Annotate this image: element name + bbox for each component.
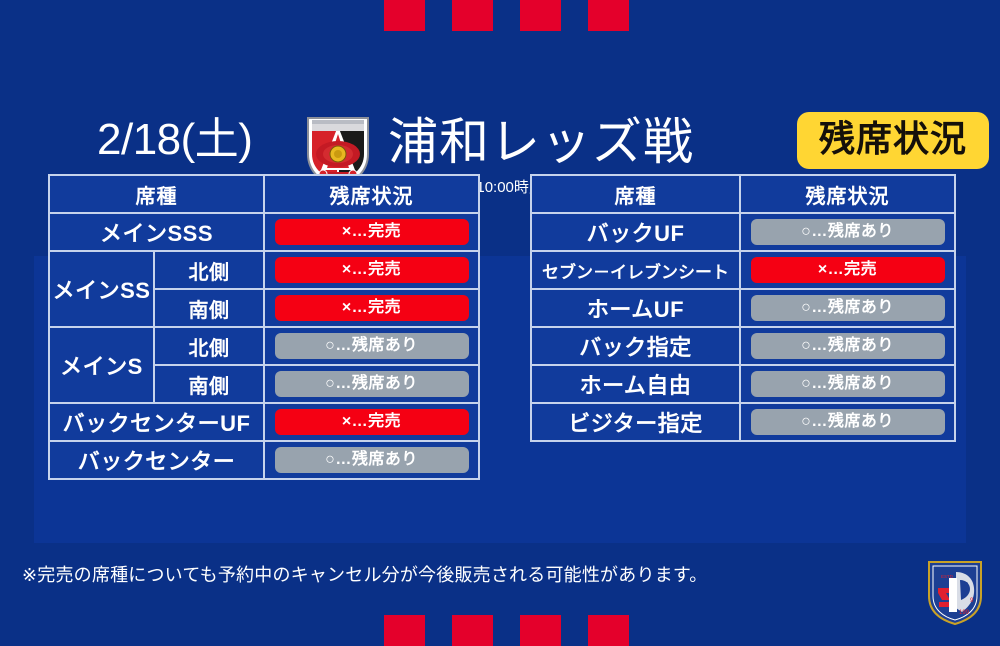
seat-type-name: メインSSS	[49, 213, 264, 251]
status-badge-soldout: ×…完売	[275, 409, 469, 435]
table-row: ビジター指定 ○…残席あり	[531, 403, 955, 441]
seat-type-sub: 南側	[154, 289, 264, 327]
seat-type-sub: 北側	[154, 327, 264, 365]
table-header-row: 席種 残席状況	[531, 175, 955, 213]
status-badge-available: ○…残席あり	[275, 371, 469, 397]
deco-block	[520, 0, 561, 31]
table-row: ホームUF ○…残席あり	[531, 289, 955, 327]
status-badge-available: ○…残席あり	[751, 333, 945, 359]
column-header-seat-type: 席種	[531, 175, 740, 213]
availability-cell: ○…残席あり	[740, 403, 955, 441]
seat-type-name: ホームUF	[531, 289, 740, 327]
status-badge-available: ○…残席あり	[275, 447, 469, 473]
status-badge-available: ○…残席あり	[751, 371, 945, 397]
deco-block	[384, 0, 425, 31]
left-seat-table: 席種 残席状況 メインSSS ×…完売 メインSS 北側 ×…完売 南側	[48, 174, 480, 480]
availability-cell: ×…完売	[264, 213, 479, 251]
deco-block	[588, 615, 629, 646]
deco-block	[520, 615, 561, 646]
availability-cell: ○…残席あり	[264, 441, 479, 479]
availability-cell: ×…完売	[264, 289, 479, 327]
column-header-seat-type: 席種	[49, 175, 264, 213]
status-badge-soldout: ×…完売	[275, 219, 469, 245]
status-badge: 残席状況	[797, 112, 989, 169]
availability-cell: ×…完売	[264, 251, 479, 289]
seat-type-sub: 北側	[154, 251, 264, 289]
availability-cell: ○…残席あり	[740, 289, 955, 327]
svg-text:ESTD: ESTD	[941, 574, 954, 579]
availability-cell: ×…完売	[740, 251, 955, 289]
bottom-decorative-bar	[0, 615, 1000, 646]
table-row: メインS 北側 ○…残席あり	[49, 327, 479, 365]
seat-type-sub: 南側	[154, 365, 264, 403]
status-badge-available: ○…残席あり	[751, 409, 945, 435]
deco-block	[384, 615, 425, 646]
table-row: メインSSS ×…完売	[49, 213, 479, 251]
seat-type-name: バックセンター	[49, 441, 264, 479]
column-header-availability: 残席状況	[740, 175, 955, 213]
seat-type-name: ビジター指定	[531, 403, 740, 441]
header: 2/18(土) URAWA 浦和レッズ戦 2/15 10:00時点 残席状況	[0, 50, 1000, 150]
status-badge-available: ○…残席あり	[751, 219, 945, 245]
match-date: 2/18(土)	[97, 118, 252, 162]
deco-block	[588, 0, 629, 31]
right-seat-table: 席種 残席状況 バックUF ○…残席あり セブン－イレブンシート ×…完売 ホー…	[530, 174, 956, 442]
availability-cell: ○…残席あり	[264, 365, 479, 403]
status-badge-soldout: ×…完売	[275, 257, 469, 283]
seat-type-name: セブン－イレブンシート	[531, 251, 740, 289]
seat-type-name: メインSS	[49, 251, 154, 327]
availability-cell: ○…残席あり	[740, 213, 955, 251]
table-row: ホーム自由 ○…残席あり	[531, 365, 955, 403]
table-row: メインSS 北側 ×…完売	[49, 251, 479, 289]
availability-cell: ×…完売	[264, 403, 479, 441]
table-row: バックセンターUF ×…完売	[49, 403, 479, 441]
table-row: バック指定 ○…残席あり	[531, 327, 955, 365]
status-badge-soldout: ×…完売	[275, 295, 469, 321]
availability-cell: ○…残席あり	[264, 327, 479, 365]
seat-type-name: バックセンターUF	[49, 403, 264, 441]
table-row: セブン－イレブンシート ×…完売	[531, 251, 955, 289]
seat-type-name: バックUF	[531, 213, 740, 251]
column-header-availability: 残席状況	[264, 175, 479, 213]
opponent-name: 浦和レッズ戦	[388, 116, 694, 169]
availability-cell: ○…残席あり	[740, 365, 955, 403]
status-badge-available: ○…残席あり	[751, 295, 945, 321]
table-header-row: 席種 残席状況	[49, 175, 479, 213]
seat-type-name: メインS	[49, 327, 154, 403]
status-badge-soldout: ×…完売	[751, 257, 945, 283]
top-decorative-bar	[0, 0, 1000, 31]
deco-block	[452, 0, 493, 31]
footer-note: ※完売の席種についても予約中のキャンセル分が今後販売される可能性があります。	[22, 561, 707, 587]
table-row: バックUF ○…残席あり	[531, 213, 955, 251]
deco-block	[452, 615, 493, 646]
seat-type-name: バック指定	[531, 327, 740, 365]
table-row: バックセンター ○…残席あり	[49, 441, 479, 479]
seat-type-name: ホーム自由	[531, 365, 740, 403]
status-badge-available: ○…残席あり	[275, 333, 469, 359]
availability-cell: ○…残席あり	[740, 327, 955, 365]
